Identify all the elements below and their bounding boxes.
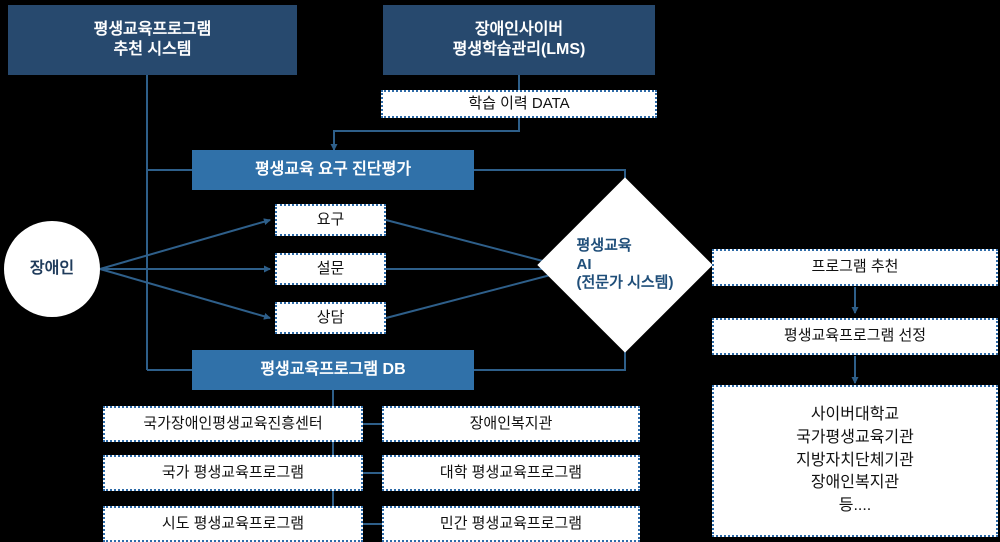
box-lifelong-education-needs-assessment[interactable]: 평생교육 요구 진단평가	[192, 150, 474, 190]
node-actor-person-with-disability[interactable]: 장애인	[4, 221, 100, 317]
box-national-disability-lifelong-education-center[interactable]: 국가장애인평생교육진흥센터	[103, 406, 363, 442]
box-program-recommendation[interactable]: 프로그램 추천	[712, 249, 998, 286]
box-input-survey[interactable]: 설문	[275, 253, 386, 285]
box-lms[interactable]: 장애인사이버 평생학습관리(LMS)	[383, 5, 655, 75]
box-private-lifelong-education-program[interactable]: 민간 평생교육프로그램	[382, 506, 640, 542]
box-learning-history-data[interactable]: 학습 이력 DATA	[381, 90, 657, 118]
node-lifelong-education-ai[interactable]: 평생교육 AI (전문가 시스템)	[563, 203, 687, 327]
box-disability-welfare-center[interactable]: 장애인복지관	[382, 406, 640, 442]
box-lifelong-education-program-db[interactable]: 평생교육프로그램 DB	[192, 350, 474, 390]
diagram-canvas: 평생교육프로그램 추천 시스템 장애인사이버 평생학습관리(LMS) 학습 이력…	[0, 0, 1000, 541]
box-national-lifelong-education-program[interactable]: 국가 평생교육프로그램	[103, 455, 363, 491]
box-provider-institutions[interactable]: 사이버대학교 국가평생교육기관 지방자치단체기관 장애인복지관 등....	[712, 385, 998, 537]
box-city-province-lifelong-education-program[interactable]: 시도 평생교육프로그램	[103, 506, 363, 542]
box-program-selection[interactable]: 평생교육프로그램 선정	[712, 318, 998, 355]
box-input-needs[interactable]: 요구	[275, 204, 386, 236]
box-input-counseling[interactable]: 상담	[275, 302, 386, 334]
box-recommendation-system[interactable]: 평생교육프로그램 추천 시스템	[8, 5, 297, 75]
provider-list: 사이버대학교 국가평생교육기관 지방자치단체기관 장애인복지관 등....	[796, 404, 914, 518]
box-university-lifelong-education-program[interactable]: 대학 평생교육프로그램	[382, 455, 640, 491]
diamond-label: 평생교육 AI (전문가 시스템)	[563, 203, 687, 327]
